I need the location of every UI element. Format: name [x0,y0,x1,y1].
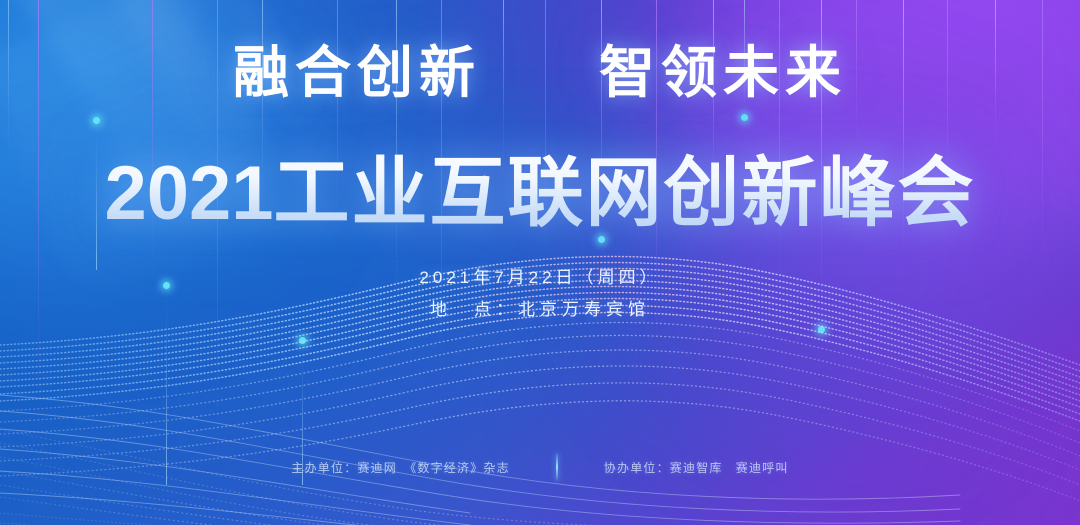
kicker-left: 融合创新 [233,28,481,109]
footer-divider [556,453,558,481]
event-poster: 融合创新 智领未来 2021工业互联网创新峰会 2021年7月22日（周四） 地… [0,0,1080,525]
host-organizer: 主办单位：赛迪网 《数字经济》杂志 [291,459,509,476]
event-date: 2021年7月22日（周四） [0,262,1080,294]
kicker-headline-row: 融合创新 智领未来 [0,28,1080,109]
organizers-footer: 主办单位：赛迪网 《数字经济》杂志 协办单位：赛迪智库 赛迪呼叫 [0,453,1080,481]
title-year: 2021 [104,151,273,236]
title-rest: 工业互联网创新峰会 [274,151,976,236]
kicker-right: 智领未来 [599,28,847,109]
co-host-organizer: 协办单位：赛迪智库 赛迪呼叫 [604,459,789,476]
poster-content: 融合创新 智领未来 2021工业互联网创新峰会 2021年7月22日（周四） 地… [0,0,1080,525]
event-meta: 2021年7月22日（周四） 地 点：北京万寿宾馆 [0,262,1080,326]
page-title: 2021工业互联网创新峰会 [0,131,1080,241]
event-location: 地 点：北京万寿宾馆 [0,294,1080,326]
